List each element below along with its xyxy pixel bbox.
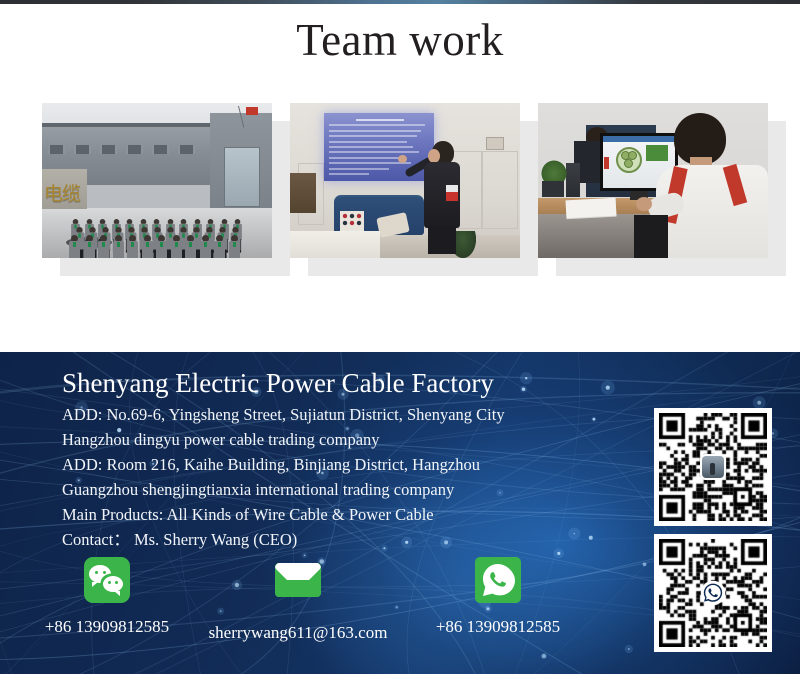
engineering-desk-photo bbox=[538, 103, 768, 258]
contact-methods-row: +86 13909812585 sherrywang611@163.com bbox=[0, 557, 620, 662]
factory-team-photo: 电缆 bbox=[42, 103, 272, 258]
email-icon[interactable] bbox=[275, 563, 321, 609]
whatsapp-icon[interactable] bbox=[475, 557, 521, 603]
qr-center-avatar bbox=[700, 454, 726, 480]
whatsapp-number: +86 13909812585 bbox=[408, 617, 588, 637]
training-meeting-photo bbox=[290, 103, 520, 258]
email-address: sherrywang611@163.com bbox=[188, 623, 408, 643]
company-name: Shenyang Electric Power Cable Factory bbox=[62, 368, 622, 400]
wechat-qr-code[interactable] bbox=[654, 408, 772, 526]
photo-frame bbox=[538, 103, 768, 258]
main-products-line: Main Products: All Kinds of Wire Cable &… bbox=[62, 502, 622, 527]
page-title: Team work bbox=[0, 16, 800, 66]
contact-email[interactable]: sherrywang611@163.com bbox=[188, 557, 408, 643]
page-title-wrap: Team work bbox=[0, 16, 800, 66]
company-info-block: Shenyang Electric Power Cable Factory AD… bbox=[62, 368, 622, 552]
qr-center-whatsapp-logo bbox=[700, 580, 726, 606]
contact-wechat[interactable]: +86 13909812585 bbox=[22, 557, 192, 637]
address-line-2: Hangzhou dingyu power cable trading comp… bbox=[62, 427, 622, 452]
photo-frame: 电缆 bbox=[42, 103, 272, 258]
address-line-4: Guangzhou shengjingtianxia international… bbox=[62, 477, 622, 502]
photo-gallery: 电缆 bbox=[0, 103, 800, 278]
contact-whatsapp[interactable]: +86 13909812585 bbox=[408, 557, 588, 637]
address-line-1: ADD: No.69-6, Yingsheng Street, Sujiatun… bbox=[62, 402, 622, 427]
address-line-3: ADD: Room 216, Kaihe Building, Binjiang … bbox=[62, 452, 622, 477]
top-banner-strip bbox=[0, 0, 800, 4]
photo-frame bbox=[290, 103, 520, 258]
whatsapp-qr-code[interactable] bbox=[654, 534, 772, 652]
wechat-number: +86 13909812585 bbox=[22, 617, 192, 637]
wechat-icon[interactable] bbox=[84, 557, 130, 603]
contact-person-line: Contact： Ms. Sherry Wang (CEO) bbox=[62, 527, 622, 552]
contact-footer: Shenyang Electric Power Cable Factory AD… bbox=[0, 352, 800, 674]
